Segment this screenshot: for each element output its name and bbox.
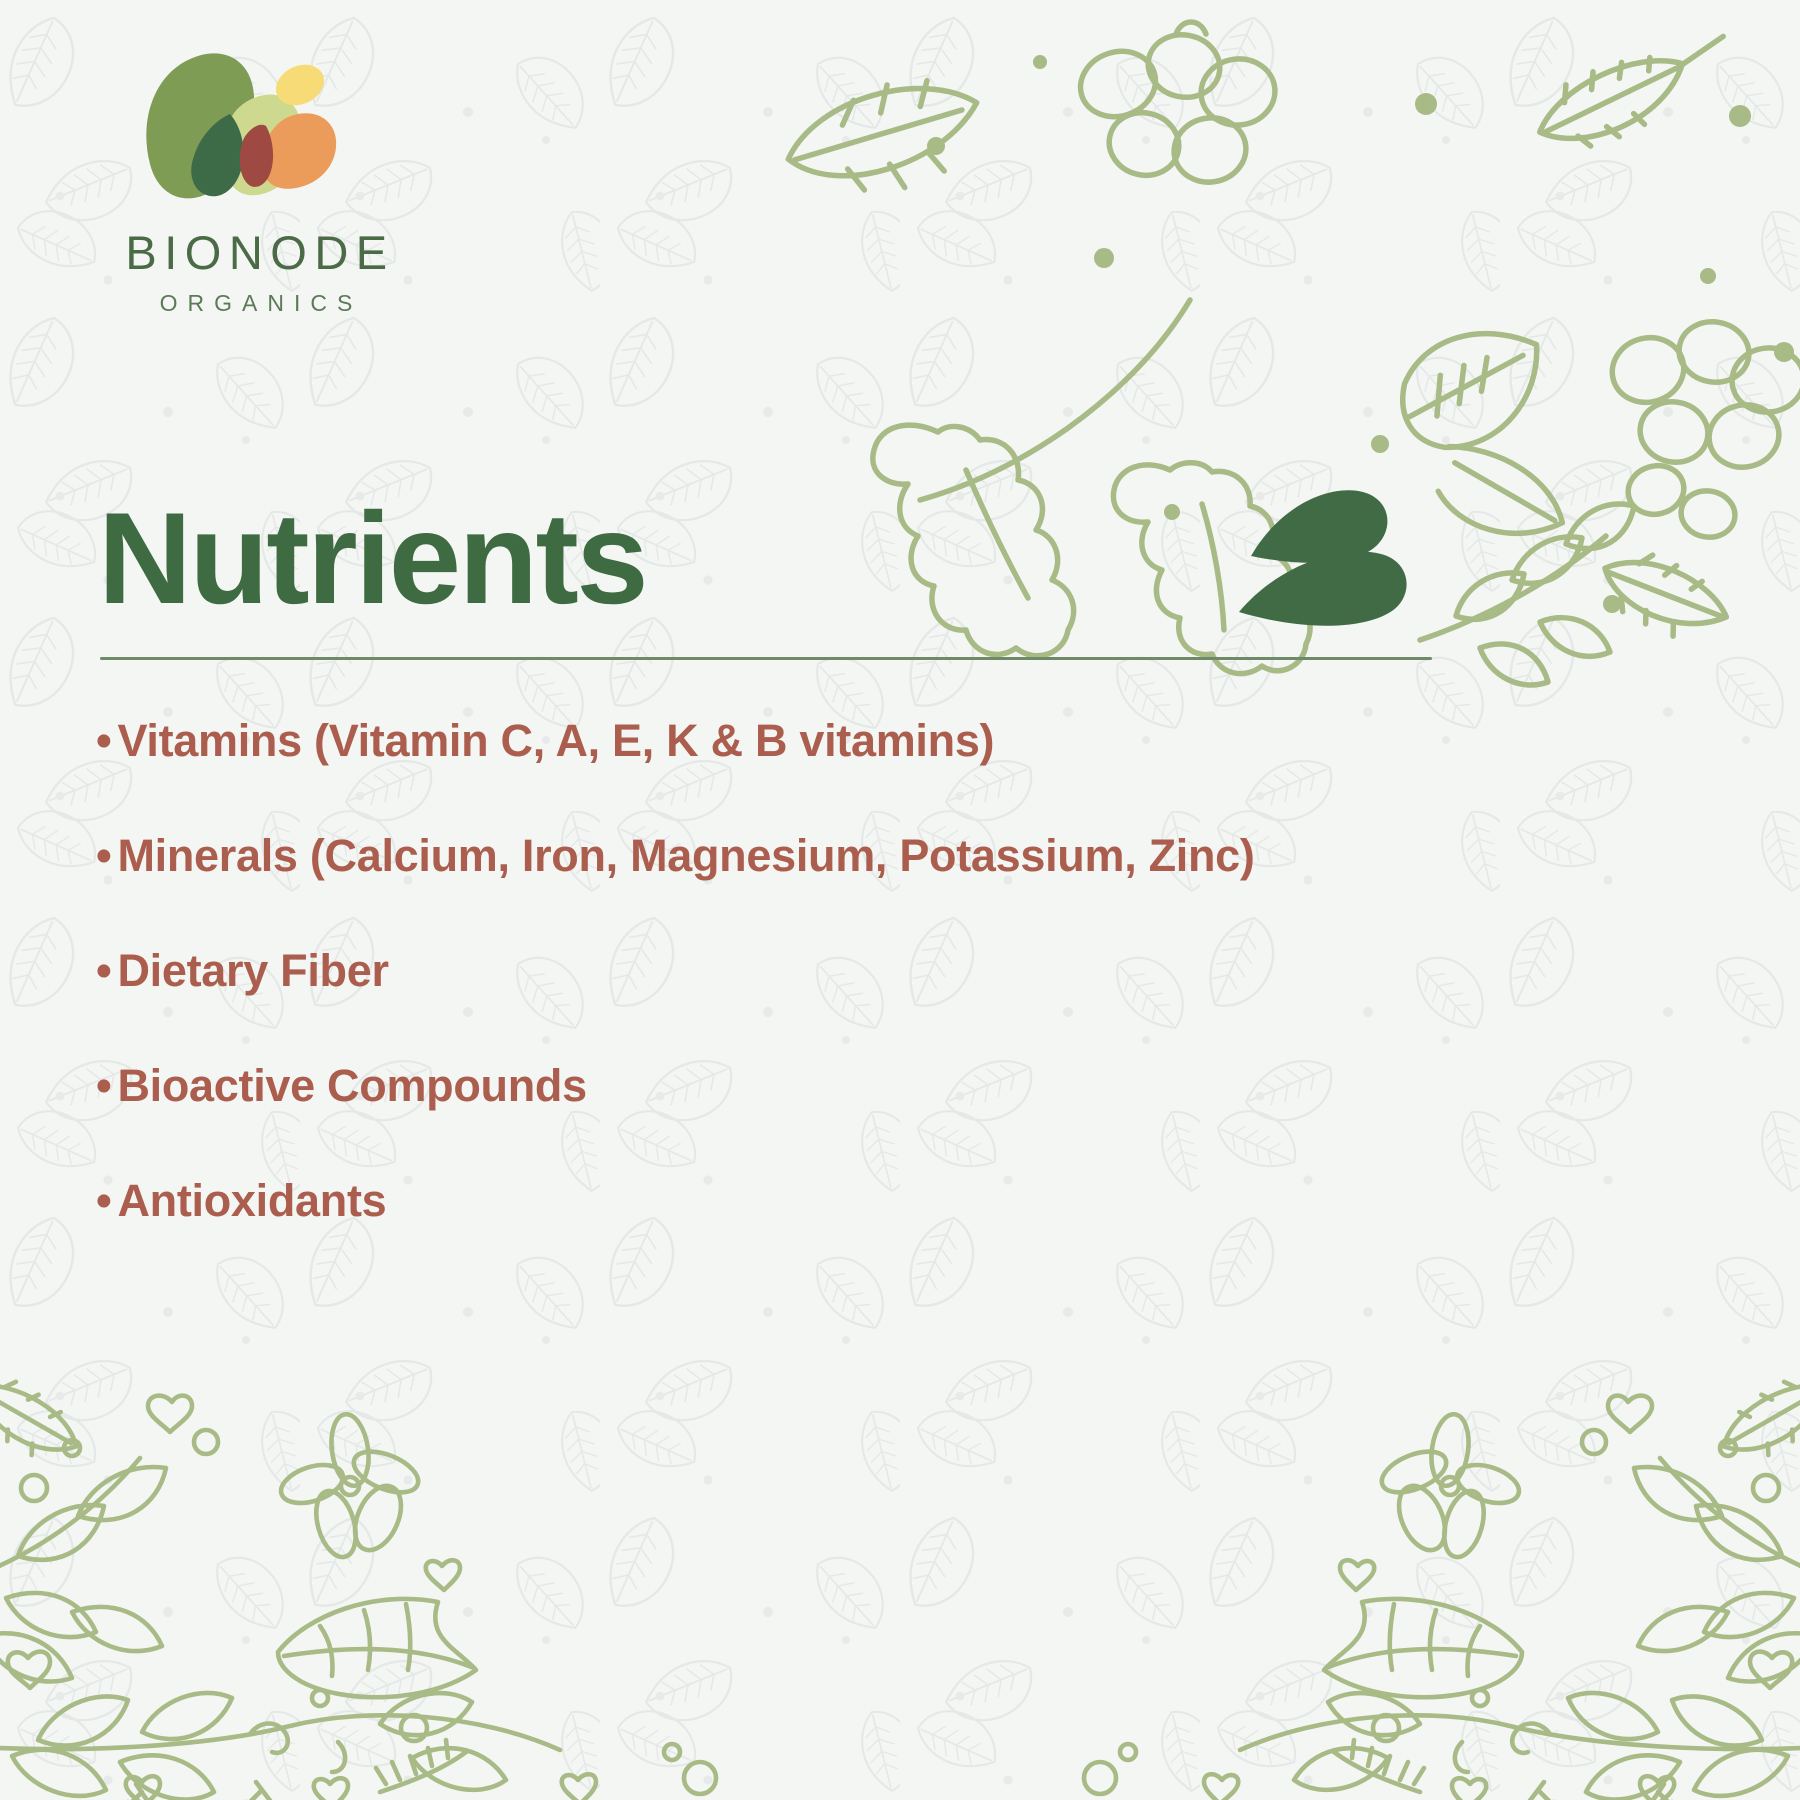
brand-name: BIONODE [92,229,422,276]
list-item: • Vitamins (Vitamin C, A, E, K & B vitam… [96,715,1576,767]
list-item-label: Vitamins (Vitamin C, A, E, K & B vitamin… [117,715,994,767]
title-divider [100,657,1432,660]
two-leaf-icon [1237,488,1412,638]
poster-content: BIONODE ORGANICS Nutrients • Vitamins (V… [0,0,1800,1800]
list-item-label: Minerals (Calcium, Iron, Magnesium, Pota… [117,830,1254,882]
brand-logo: BIONODE ORGANICS [92,48,422,315]
poster-canvas: BIONODE ORGANICS Nutrients • Vitamins (V… [0,0,1800,1800]
list-item-label: Dietary Fiber [117,945,388,997]
nutrients-list: • Vitamins (Vitamin C, A, E, K & B vitam… [96,715,1576,1290]
list-item: • Bioactive Compounds [96,1060,1576,1112]
list-item: • Dietary Fiber [96,945,1576,997]
bullet-icon: • [96,1063,111,1108]
brand-tagline: ORGANICS [92,292,422,315]
page-heading-row: Nutrients [98,480,1458,638]
page-title: Nutrients [98,495,646,622]
bullet-icon: • [96,948,111,993]
list-item-label: Antioxidants [117,1175,386,1227]
list-item: • Minerals (Calcium, Iron, Magnesium, Po… [96,830,1576,882]
list-item: • Antioxidants [96,1175,1576,1227]
list-item-label: Bioactive Compounds [117,1060,586,1112]
bionode-logo-mark-icon [120,48,350,213]
bullet-icon: • [96,1178,111,1223]
bullet-icon: • [96,718,111,763]
bullet-icon: • [96,833,111,878]
